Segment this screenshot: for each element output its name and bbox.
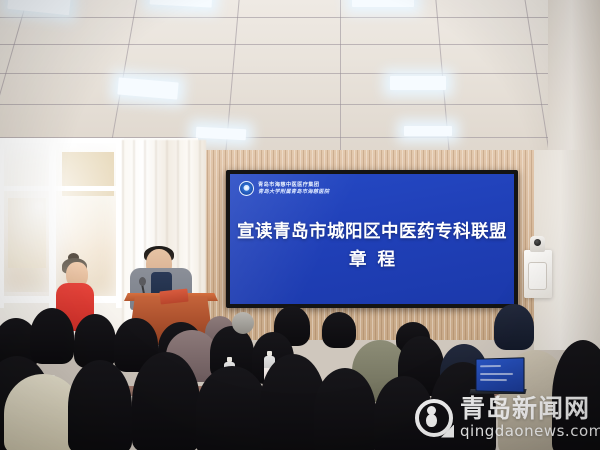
camera-lens-icon	[534, 239, 541, 246]
ceiling-light-panel	[352, 0, 414, 7]
audience-person	[132, 352, 200, 450]
screenshot-root: 青岛市海慈中医医疗集团 青岛大学附属青岛市海慈医院 宣读青岛市城阳区中医药专科联…	[0, 0, 600, 450]
slide-org-logo: 青岛市海慈中医医疗集团 青岛大学附属青岛市海慈医院	[239, 181, 329, 196]
audience-person	[314, 368, 376, 450]
ceiling-light-panel	[390, 76, 446, 90]
speaker-grille	[528, 262, 547, 290]
slide-title-line1: 宣读青岛市城阳区中医药专科联盟	[230, 220, 514, 245]
wall-mounted-speaker	[524, 250, 552, 298]
audience-person	[494, 304, 534, 350]
audience-person	[196, 366, 268, 450]
laptop-screen-line	[480, 379, 507, 381]
window-mullion	[49, 138, 56, 308]
right-wall-upper	[548, 0, 600, 170]
watermark-text: 青岛新闻网 qingdaonews.com	[460, 395, 600, 440]
window-transom	[0, 186, 124, 191]
window-mullion	[0, 138, 4, 308]
audience-person	[30, 308, 74, 364]
hospital-emblem-icon	[239, 181, 254, 196]
building-outside	[8, 198, 46, 268]
audience-person	[68, 360, 132, 450]
q-inner-pin	[426, 414, 437, 427]
watermark: 青岛新闻网 qingdaonews.com	[415, 395, 600, 440]
presentation-slide: 青岛市海慈中医医疗集团 青岛大学附属青岛市海慈医院 宣读青岛市城阳区中医药专科联…	[230, 174, 514, 304]
org-name-line2: 青岛大学附属青岛市海慈医院	[258, 189, 329, 195]
slide-title-line2: 章程	[230, 248, 514, 273]
laptop-screen-line	[480, 373, 513, 375]
led-display-bezel: 青岛市海慈中医医疗集团 青岛大学附属青岛市海慈医院 宣读青岛市城阳区中医药专科联…	[226, 170, 518, 308]
watermark-english: qingdaonews.com	[460, 423, 600, 440]
audience-laptop-screen	[476, 357, 525, 393]
laptop-screen-line	[480, 365, 501, 367]
slide-org-logo-text: 青岛市海慈中医医疗集团 青岛大学附属青岛市海慈医院	[258, 182, 329, 195]
window-transom	[0, 138, 124, 143]
qingdaonews-q-logo-icon	[415, 399, 453, 437]
org-name-line1: 青岛市海慈中医医疗集团	[258, 182, 329, 188]
microphone-head-icon	[139, 277, 146, 286]
watermark-chinese: 青岛新闻网	[460, 395, 600, 422]
ceiling-light-panel	[404, 126, 452, 136]
audience-person	[322, 312, 356, 348]
audience-person	[232, 312, 254, 334]
